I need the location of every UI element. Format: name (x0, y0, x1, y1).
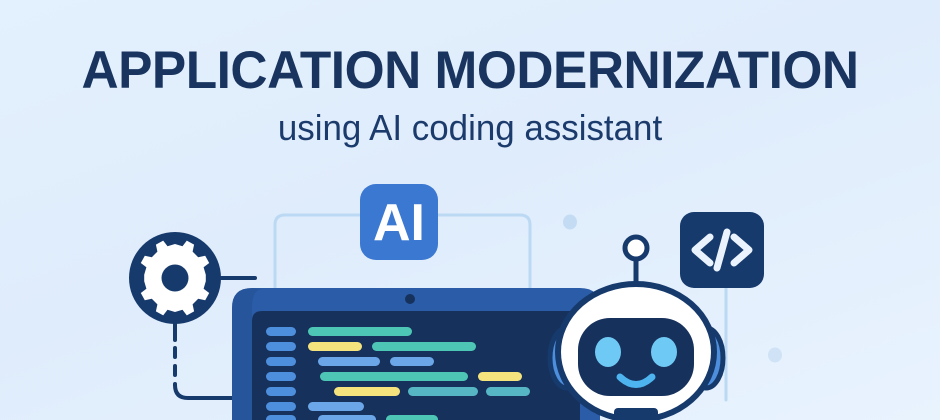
robot-neck (614, 408, 658, 420)
robot-eye-right (651, 337, 677, 367)
ai-badge[interactable]: AI (360, 184, 438, 260)
connector-gear-elbow (175, 385, 240, 398)
ai-badge-label: AI (373, 194, 425, 252)
laptop-illustration (232, 288, 600, 420)
decor-dot-left (563, 215, 577, 230)
robot-antenna-tip-icon (625, 237, 647, 259)
gear-icon (129, 232, 221, 324)
banner-root: AI APPLICATION MODERNIZATION using AI co… (0, 0, 940, 420)
robot-eye-left (595, 337, 621, 367)
code-badge[interactable] (680, 212, 764, 288)
illustration-scene: AI (0, 0, 940, 420)
decor-dot-right (768, 348, 782, 363)
laptop-webcam-icon (405, 294, 415, 304)
